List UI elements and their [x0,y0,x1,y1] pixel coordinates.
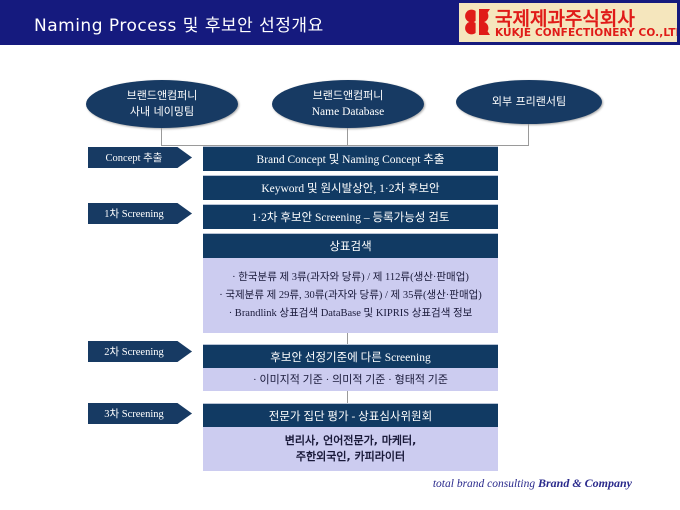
process-box-expert-evaluation[interactable]: 전문가 집단 평가 - 상표심사위원회 [203,403,498,427]
process-box-title: Keyword 및 원시발상안, 1·2차 후보안 [261,180,439,196]
connector-right-vertical [528,124,529,146]
ellipse-line2: 외부 프리랜서팀 [492,94,566,110]
detail-box-expert-panel: 변리사, 언어전문가, 마케터, 주한외국인, 카피라이터 [203,427,498,471]
process-box-brand-concept[interactable]: Brand Concept 및 Naming Concept 추출 [203,146,498,171]
stage-label-screening-3[interactable]: 3차 Screening [88,403,192,424]
process-box-title: 1·2차 후보안 Screening – 등록가능성 검토 [252,209,450,225]
stage-label-screening-2[interactable]: 2차 Screening [88,341,192,362]
connector-step4-to-step5 [347,333,348,344]
stage-label-text: 1차 Screening [104,206,164,221]
connector-center-vertical [347,128,348,146]
detail-line: · 국제분류 제 29류, 30류(과자와 당류) / 제 35류(생산·판매업… [219,287,482,305]
ellipse-line2: Name Database [312,104,384,120]
detail-line: 변리사, 언어전문가, 마케터, [285,433,417,449]
footer-credit: total brand consulting Brand & Company [433,476,632,491]
connector-left-vertical [161,128,162,146]
detail-box-trademark-search: · 한국분류 제 3류(과자와 당류) / 제 112류(생산·판매업) · 국… [203,258,498,333]
stage-label-concept-extraction[interactable]: Concept 추출 [88,147,192,168]
stage-label-text: 2차 Screening [104,344,164,359]
page-title: Naming Process 및 후보안 선정개요 [34,11,324,36]
connector-step5-to-step6 [347,391,348,403]
process-box-screening-registrability[interactable]: 1·2차 후보안 Screening – 등록가능성 검토 [203,204,498,229]
process-box-selection-criteria-screening[interactable]: 후보안 선정기준에 다른 Screening [203,344,498,368]
process-box-title: 전문가 집단 평가 - 상표심사위원회 [269,408,432,424]
logo-english-name: KUKJE CONFECTIONERY CO.,LTD. [495,27,677,39]
detail-line: · Brandlink 상표검색 DataBase 및 KIPRIS 상표검색 … [229,305,473,323]
detail-line: 주한외국인, 카피라이터 [296,449,405,465]
kukje-butterfly-logo-icon [463,7,493,37]
process-box-title: Brand Concept 및 Naming Concept 추출 [257,151,445,167]
process-box-title: 후보안 선정기준에 다른 Screening [270,349,430,365]
ellipse-line1: 브랜드앤컴퍼니 [127,88,198,104]
stage-label-text: 3차 Screening [104,406,164,421]
stage-label-screening-1[interactable]: 1차 Screening [88,203,192,224]
process-box-trademark-search[interactable]: 상표검색 [203,233,498,258]
footer-prefix: total brand consulting [433,478,538,490]
source-ellipse-name-database[interactable]: 브랜드앤컴퍼니 Name Database [272,80,424,128]
detail-line: · 한국분류 제 3류(과자와 당류) / 제 112류(생산·판매업) [232,269,469,287]
ellipse-line2: 사내 네이밍팀 [130,104,194,120]
header-banner: Naming Process 및 후보안 선정개요 국제제과주식회사 KUKJE… [0,0,680,45]
source-ellipse-external-freelancer-team[interactable]: 외부 프리랜서팀 [456,80,602,124]
detail-box-screening-criteria: · 이미지적 기준 · 의미적 기준 · 형태적 기준 [203,368,498,391]
process-box-title: 상표검색 [329,238,371,254]
footer-brand: Brand & Company [538,476,632,490]
source-ellipse-internal-naming-team[interactable]: 브랜드앤컴퍼니 사내 네이밍팀 [86,80,238,128]
stage-label-text: Concept 추출 [106,150,163,165]
process-box-keyword[interactable]: Keyword 및 원시발상안, 1·2차 후보안 [203,175,498,200]
ellipse-line1: 브랜드앤컴퍼니 [313,88,384,104]
detail-line: · 이미지적 기준 · 의미적 기준 · 형태적 기준 [253,371,448,389]
company-logo: 국제제과주식회사 KUKJE CONFECTIONERY CO.,LTD. [459,3,677,42]
